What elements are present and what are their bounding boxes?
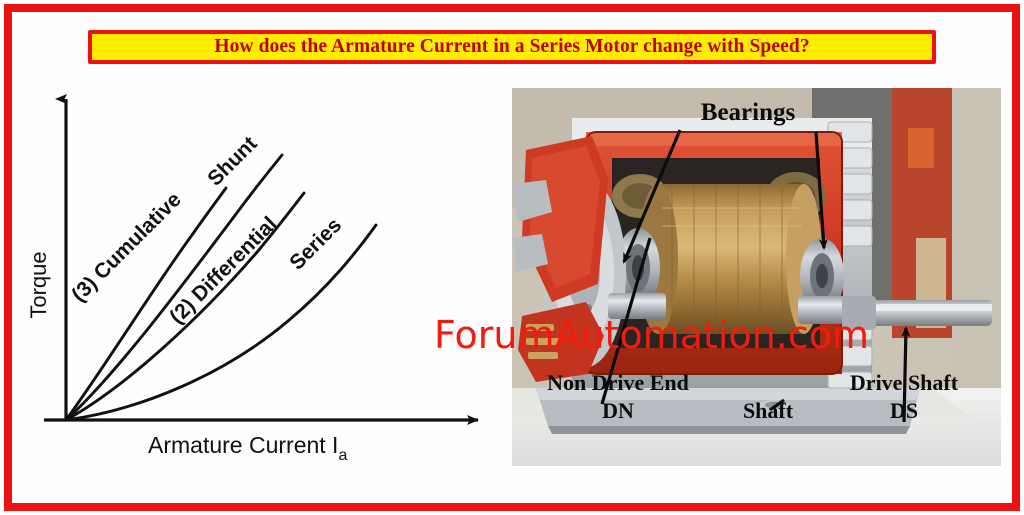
x-axis-label-main: Armature Current I bbox=[148, 432, 338, 458]
curve-label-cumulative: (3) Cumulative bbox=[67, 188, 186, 307]
brush-holder-assembly bbox=[512, 136, 608, 382]
drive-shaft bbox=[842, 296, 992, 330]
screenshot-root: How does the Armature Current in a Serie… bbox=[0, 0, 1024, 515]
curve-label-shunt: Shunt bbox=[203, 132, 261, 190]
page-title: How does the Armature Current in a Serie… bbox=[214, 36, 809, 58]
motor-cutaway-photo: Bearings Non Drive End DN Shaft Drive Sh… bbox=[512, 88, 1001, 466]
y-axis-label: Torque bbox=[26, 251, 51, 318]
x-axis-label-subscript: a bbox=[338, 447, 347, 464]
callout-bearings: Bearings bbox=[701, 99, 796, 126]
callout-non-drive-end-line1: Non Drive End bbox=[547, 370, 689, 395]
torque-vs-armature-current-chart: (3) Cumulative Shunt (2) Differential Se… bbox=[20, 75, 500, 465]
callout-non-drive-end-line2: DN bbox=[602, 398, 634, 423]
x-axis-label: Armature Current Ia bbox=[148, 432, 347, 464]
callout-drive-shaft-line2: DS bbox=[890, 398, 918, 423]
callout-shaft: Shaft bbox=[743, 398, 794, 423]
title-banner: How does the Armature Current in a Serie… bbox=[88, 30, 936, 64]
callout-drive-shaft-line1: Drive Shaft bbox=[850, 370, 959, 395]
chart-curve-labels: (3) Cumulative Shunt (2) Differential Se… bbox=[67, 132, 346, 328]
curve-label-series: Series bbox=[285, 214, 346, 275]
